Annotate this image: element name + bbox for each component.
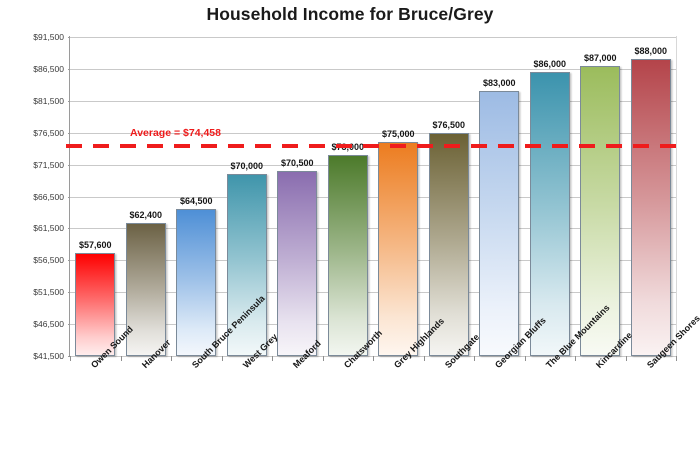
x-axis-tick-mark: [525, 356, 526, 361]
y-axis-tick-label: $81,500: [8, 96, 64, 106]
bar-value-label: $76,500: [432, 120, 465, 130]
bar-value-label: $70,500: [281, 158, 314, 168]
average-line-label: Average = $74,458: [130, 127, 221, 139]
bar-value-label: $64,500: [180, 196, 213, 206]
x-axis-tick-mark: [373, 356, 374, 361]
bar[interactable]: [126, 223, 166, 356]
bar-value-label: $83,000: [483, 78, 516, 88]
x-axis-tick-mark: [626, 356, 627, 361]
chart-title: Household Income for Bruce/Grey: [0, 4, 700, 25]
plot-right-border: [676, 36, 677, 357]
x-axis-tick-mark: [171, 356, 172, 361]
x-axis-tick-mark: [575, 356, 576, 361]
bar[interactable]: [378, 142, 418, 356]
bar[interactable]: [328, 155, 368, 356]
x-axis-tick-mark: [272, 356, 273, 361]
bar[interactable]: [277, 171, 317, 356]
x-axis-tick-mark: [424, 356, 425, 361]
x-axis-tick-mark: [676, 356, 677, 361]
y-axis-tick-label: $41,500: [8, 351, 64, 361]
bar-value-label: $86,000: [533, 59, 566, 69]
y-axis-tick-label: $76,500: [8, 128, 64, 138]
y-axis-tick-label: $86,500: [8, 64, 64, 74]
bar-value-label: $57,600: [79, 240, 112, 250]
x-axis-tick-mark: [474, 356, 475, 361]
y-axis-tick-labels: $91,500$86,500$81,500$76,500$71,500$66,5…: [4, 0, 64, 454]
x-axis-tick-mark: [222, 356, 223, 361]
x-axis-tick-mark: [121, 356, 122, 361]
y-axis-tick-label: $46,500: [8, 319, 64, 329]
average-line: [66, 144, 680, 148]
bar[interactable]: [631, 59, 671, 356]
x-axis-tick-mark: [323, 356, 324, 361]
y-axis-tick-label: $56,500: [8, 255, 64, 265]
bar-value-label: $70,000: [230, 161, 263, 171]
bar-value-label: $75,000: [382, 129, 415, 139]
y-axis-tick-label: $71,500: [8, 160, 64, 170]
bar[interactable]: [176, 209, 216, 356]
bar-value-label: $62,400: [129, 210, 162, 220]
bar[interactable]: [530, 72, 570, 356]
bar[interactable]: [479, 91, 519, 356]
y-axis-tick-label: $66,500: [8, 192, 64, 202]
y-axis-tick-label: $91,500: [8, 32, 64, 42]
bar-value-label: $88,000: [634, 46, 667, 56]
bar-value-label: $87,000: [584, 53, 617, 63]
x-axis-tick-mark: [70, 356, 71, 361]
household-income-chart: Household Income for Bruce/Grey $91,500$…: [0, 0, 700, 454]
bar[interactable]: [75, 253, 115, 356]
gridline: [70, 37, 676, 38]
y-axis-tick-label: $51,500: [8, 287, 64, 297]
y-axis-tick-label: $61,500: [8, 223, 64, 233]
